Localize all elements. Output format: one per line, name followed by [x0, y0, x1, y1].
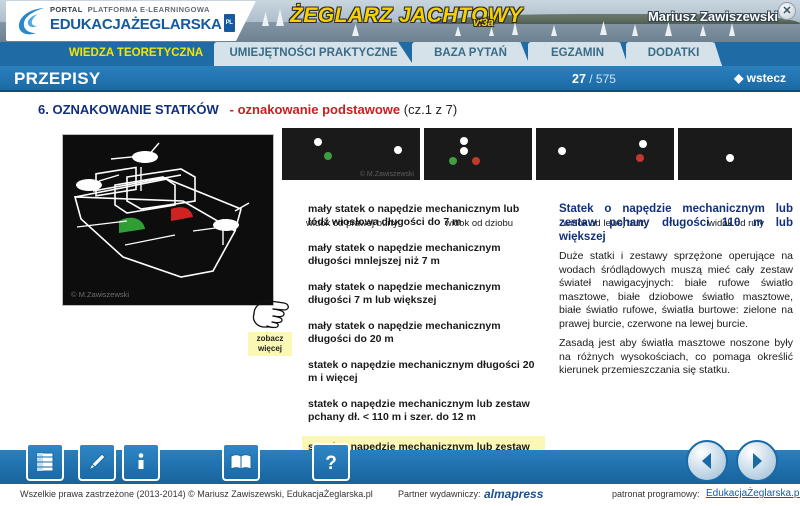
section-bar: PRZEPISY 27 / 575 ◆ wstecz — [0, 66, 800, 92]
next-page-button[interactable] — [736, 440, 778, 482]
light-dot — [472, 157, 480, 165]
svg-text:?: ? — [325, 453, 337, 473]
light-dot — [314, 138, 322, 146]
page-current: 27 — [572, 72, 586, 86]
light-dot — [460, 137, 468, 145]
page-title: PRZEPISY — [14, 69, 100, 89]
light-dot — [324, 152, 332, 160]
question-mark-icon: ? — [320, 451, 342, 473]
pointing-hand-icon — [248, 294, 294, 330]
content-area: 6. OZNAKOWANIE STATKÓW - oznakowanie pod… — [0, 92, 800, 444]
panel-watermark: © M.Zawiszewski — [360, 171, 414, 178]
heading-main: OZNAKOWANIE STATKÓW — [52, 102, 218, 117]
light-dot — [460, 147, 468, 155]
light-panel-port — [536, 128, 676, 180]
vessel-illustration: © M.Zawiszewski — [62, 134, 274, 306]
info-button[interactable] — [122, 443, 160, 481]
light-dot — [449, 157, 457, 165]
list-item[interactable]: mały statek o napędzie mechanicznym dług… — [305, 280, 545, 307]
light-dot — [558, 147, 566, 155]
vessel-diagram-icon — [63, 135, 273, 305]
edit-button[interactable] — [78, 443, 116, 481]
user-name: Mariusz Zawiszewski — [648, 9, 778, 24]
tab-baza-pytan[interactable]: BAZA PYTAŃ — [412, 42, 530, 66]
heading-sub: - oznakowanie podstawowe — [230, 102, 400, 117]
book-icon — [229, 451, 253, 473]
list-item[interactable]: statek o napędzie mechanicznym długości … — [305, 358, 545, 385]
arrow-left-icon — [696, 450, 718, 472]
heading-part: (cz.1 z 7) — [404, 102, 457, 117]
list-item[interactable]: mały statek o napędzie mechanicznym dług… — [305, 319, 545, 346]
site-logo[interactable]: PORTAL PLATFORMA E-LEARNINGOWA EDUKACJAŻ… — [6, 1, 256, 41]
logo-pl-badge: PL — [224, 14, 235, 32]
list-item[interactable]: statek o napędzie mechanicznym lub zesta… — [305, 397, 545, 424]
logo-text-block: PORTAL PLATFORMA E-LEARNINGOWA EDUKACJAŻ… — [50, 5, 235, 33]
help-button[interactable]: ? — [312, 443, 350, 481]
tab-dodatki[interactable]: DODATKI — [626, 42, 722, 66]
heading-number: 6. — [38, 102, 49, 117]
see-more-line1: zobacz — [257, 334, 284, 343]
sailboat-logo-icon — [14, 5, 48, 38]
lesson-heading: 6. OZNAKOWANIE STATKÓW - oznakowanie pod… — [38, 102, 457, 117]
page-counter: 27 / 575 — [572, 72, 616, 86]
notes-button[interactable] — [26, 443, 64, 481]
list-item[interactable]: mały statek o napędzie mechanicznym lub … — [305, 202, 545, 229]
prev-page-button[interactable] — [686, 440, 728, 482]
info-heading: Statek o napędzie mechanicznym lub zesta… — [559, 202, 793, 244]
see-more-line2: więcej — [258, 344, 282, 353]
info-paragraph-1: Duże statki i zestawy sprzężone operując… — [559, 250, 793, 331]
copyright-text: Wszelkie prawa zastrzeżone (2013-2014) ©… — [20, 489, 373, 499]
tab-umiejetnosci-praktyczne[interactable]: UMIEJĘTNOŚCI PRAKTYCZNE — [214, 42, 414, 66]
light-dot — [726, 154, 734, 162]
light-dot — [639, 140, 647, 148]
light-panel-starboard: © M.Zawiszewski — [282, 128, 422, 180]
info-paragraph-2: Zasadą jest aby światła masztowe noszone… — [559, 337, 793, 378]
partner-label: Partner wydawniczy: — [398, 489, 481, 499]
page-footer: Wszelkie prawa zastrzeżone (2013-2014) ©… — [0, 484, 800, 506]
logo-name: EDUKACJAŻEGLARSKAPL — [50, 14, 235, 33]
arrow-right-icon — [746, 450, 768, 472]
course-version: v.3a — [473, 17, 494, 29]
see-more-control[interactable]: zobacz więcej — [248, 294, 296, 356]
application-window: PORTAL PLATFORMA E-LEARNINGOWA EDUKACJAŻ… — [0, 0, 800, 506]
light-panel-stern — [678, 128, 794, 180]
main-tabbar: WIEDZA TEORETYCZNA UMIEJĘTNOŚCI PRAKTYCZ… — [0, 42, 800, 66]
light-panel-bow — [424, 128, 534, 180]
back-button[interactable]: ◆ wstecz — [734, 71, 786, 85]
pencil-icon — [86, 451, 108, 473]
list-item[interactable]: mały statek o napędzie mechanicznym dług… — [305, 241, 545, 268]
info-icon — [130, 451, 152, 473]
illustration-watermark: © M.Zawiszewski — [71, 290, 129, 299]
close-icon[interactable]: ✕ — [778, 2, 796, 20]
page-total: / 575 — [589, 72, 616, 86]
info-body: Duże statki i zestawy sprzężone operując… — [559, 250, 793, 378]
notes-page-icon — [34, 451, 56, 473]
bottom-toolbar: ? — [0, 450, 800, 484]
partner-name: almapress — [484, 487, 543, 501]
light-dot — [394, 146, 402, 154]
logo-tagline: PORTAL PLATFORMA E-LEARNINGOWA — [50, 5, 235, 14]
tab-egzamin[interactable]: EGZAMIN — [528, 42, 628, 66]
app-header: PORTAL PLATFORMA E-LEARNINGOWA EDUKACJAŻ… — [0, 0, 800, 42]
light-dot — [636, 154, 644, 162]
light-views: © M.Zawiszewski widok od prawej burty wi… — [282, 128, 794, 180]
patron-link[interactable]: EdukacjaŻeglarska.pl — [706, 488, 800, 499]
tab-wiedza-teoretyczna[interactable]: WIEDZA TEORETYCZNA — [56, 42, 216, 66]
see-more-label: zobacz więcej — [248, 332, 292, 356]
vessel-type-list: mały statek o napędzie mechanicznym lub … — [305, 202, 545, 483]
info-panel: Statek o napędzie mechanicznym lub zesta… — [559, 202, 793, 384]
patron-label: patronat programowy: — [612, 489, 700, 499]
dictionary-button[interactable] — [222, 443, 260, 481]
